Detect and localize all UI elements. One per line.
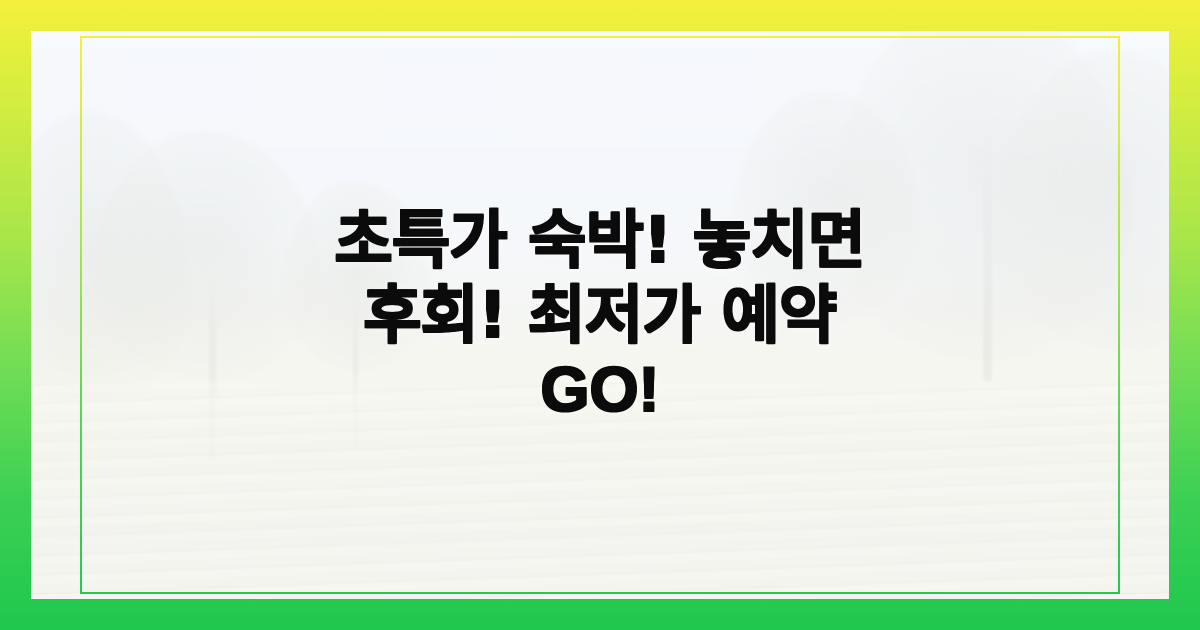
headline-line-3: GO!: [335, 353, 866, 428]
promo-banner: 초특가 숙박! 놓치면 후회! 최저가 예약 GO!: [0, 0, 1200, 630]
headline-line-2: 후회! 최저가 예약: [335, 278, 866, 353]
headline-container: 초특가 숙박! 놓치면 후회! 최저가 예약 GO!: [0, 0, 1200, 630]
headline-line-1: 초특가 숙박! 놓치면: [335, 203, 866, 278]
headline-text: 초특가 숙박! 놓치면 후회! 최저가 예약 GO!: [335, 203, 866, 428]
